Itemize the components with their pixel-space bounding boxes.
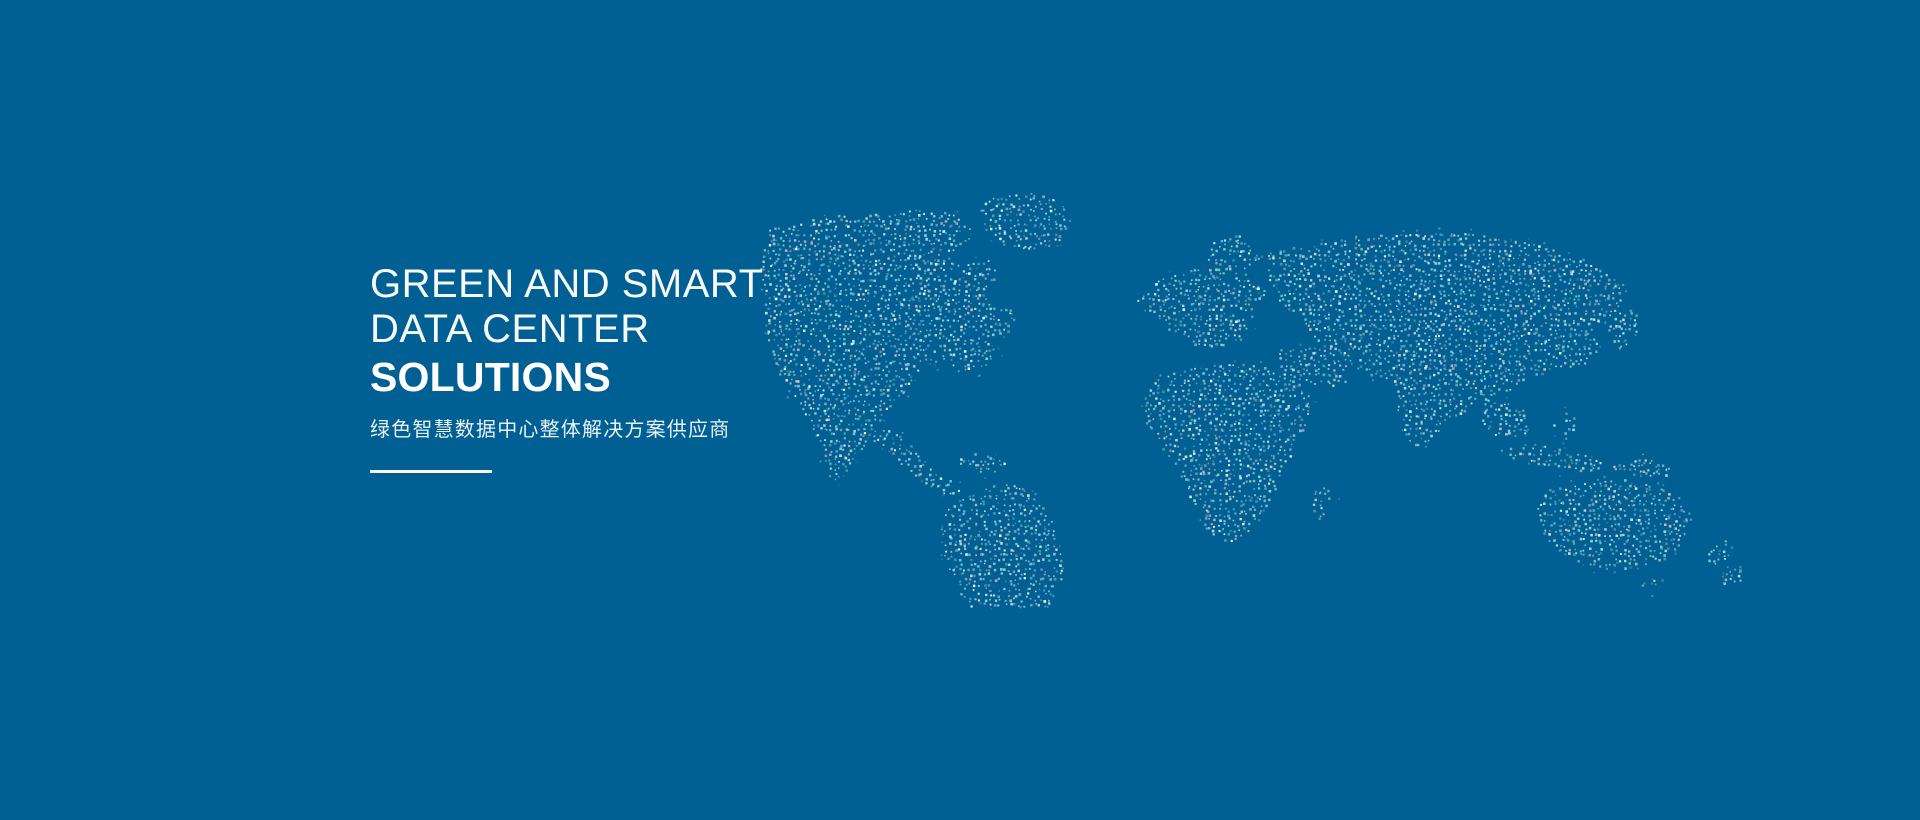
headline-line-3: SOLUTIONS xyxy=(370,352,930,402)
hero-banner: GREEN AND SMART DATA CENTER SOLUTIONS 绿色… xyxy=(0,0,1920,820)
headline-line-2: DATA CENTER xyxy=(370,307,930,352)
headline-line-1: GREEN AND SMART xyxy=(370,262,930,307)
hero-divider-rule xyxy=(370,470,492,473)
hero-subtitle-chinese: 绿色智慧数据中心整体解决方案供应商 xyxy=(370,416,930,444)
hero-text-block: GREEN AND SMART DATA CENTER SOLUTIONS 绿色… xyxy=(370,262,930,473)
